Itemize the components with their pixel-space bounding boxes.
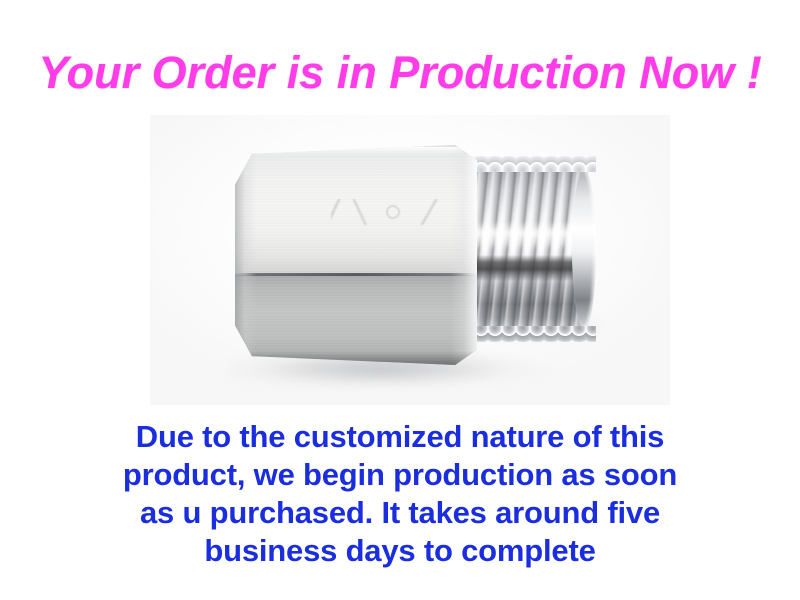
headline-text: Your Order is in Production Now ! [0,46,800,100]
thread-end-cap [572,169,596,329]
body-copy-line-3: as u purchased. It takes around five [0,494,800,532]
hex-nut-body [235,145,477,365]
hex-brushed-texture [235,145,477,365]
hex-stamped-marking [331,199,449,225]
product-photo [150,115,670,405]
promo-banner: Your Order is in Production Now ! [0,0,800,600]
body-copy-line-2: product, we begin production as soon [0,456,800,494]
hex-face-edge-line [235,273,477,276]
body-copy-line-4: business days to complete [0,532,800,570]
body-copy-line-1: Due to the customized nature of this [0,418,800,456]
body-copy-text: Due to the customized nature of this pro… [0,418,800,570]
hex-right-corner-facet [451,145,477,365]
